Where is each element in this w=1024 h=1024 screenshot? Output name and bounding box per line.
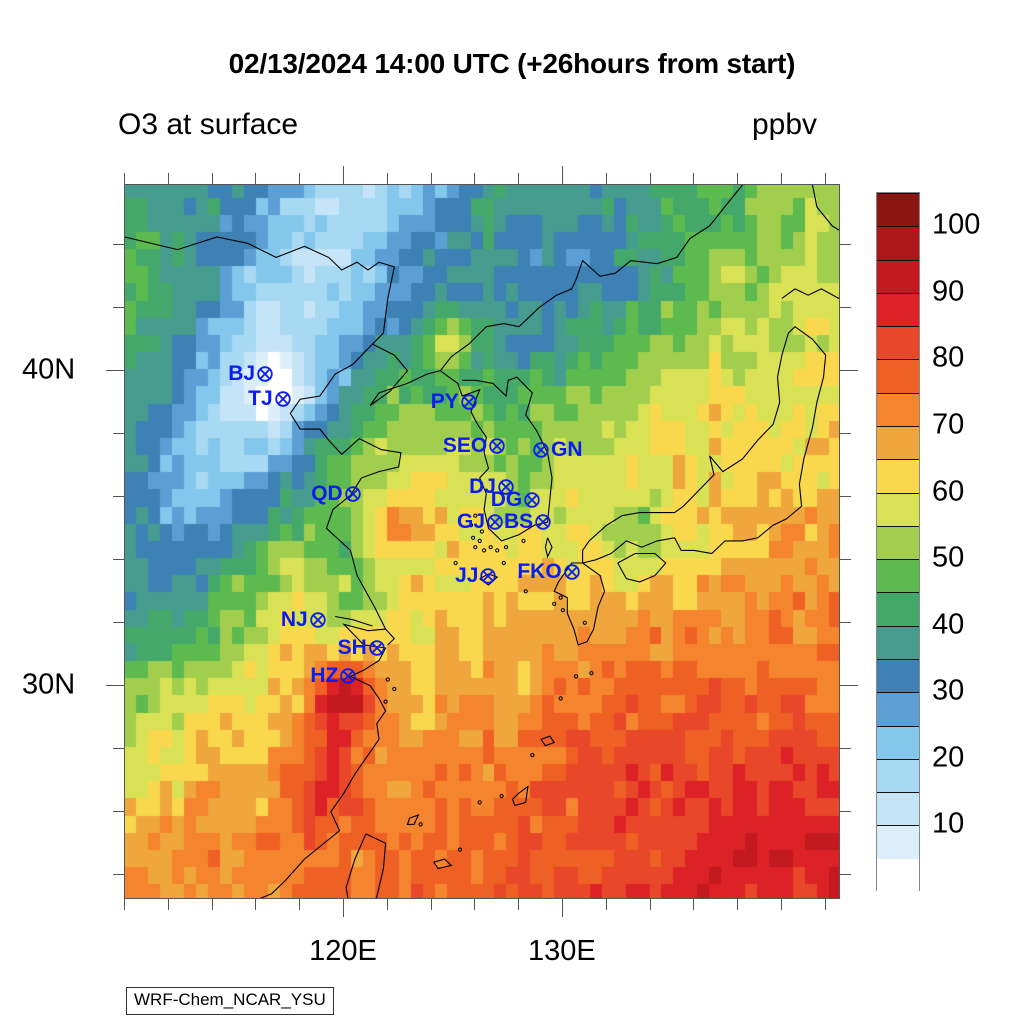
x-axis-tick bbox=[168, 899, 169, 910]
x-axis-tick bbox=[650, 899, 651, 910]
x-axis-tick bbox=[299, 899, 300, 910]
station-label: NJ bbox=[281, 608, 308, 632]
y-axis-tick bbox=[113, 559, 124, 560]
y-axis-tick bbox=[113, 496, 124, 497]
y-axis-tick bbox=[840, 811, 851, 812]
colorbar-band[interactable] bbox=[877, 659, 919, 692]
colorbar-band[interactable] bbox=[877, 859, 919, 892]
x-axis-tick bbox=[255, 173, 256, 184]
x-axis-tick bbox=[781, 173, 782, 184]
y-axis-label: 40N bbox=[22, 353, 75, 386]
station-label: GJ bbox=[457, 510, 485, 534]
station-label: SH bbox=[338, 636, 367, 660]
y-axis-tick bbox=[113, 307, 124, 308]
plot-subtitle: O3 at surface bbox=[118, 108, 298, 142]
x-axis-tick bbox=[693, 173, 694, 184]
x-axis-tick bbox=[518, 899, 519, 910]
x-axis-tick bbox=[431, 899, 432, 910]
x-axis-tick bbox=[606, 899, 607, 910]
x-axis-tick bbox=[693, 899, 694, 910]
station-markers-layer: BJTJQDNJSHHZPYSEODJDGGJBSJJGNFKO bbox=[125, 185, 840, 899]
colorbar-tick-label: 40 bbox=[932, 608, 964, 641]
colorbar-tick-label: 30 bbox=[932, 675, 964, 708]
y-axis-tick bbox=[113, 622, 124, 623]
y-axis-tick bbox=[840, 370, 858, 371]
page-title: 02/13/2024 14:00 UTC (+26hours from star… bbox=[0, 48, 1024, 80]
x-axis-tick bbox=[562, 166, 563, 184]
colorbar-band[interactable] bbox=[877, 193, 919, 226]
circle-cross-icon bbox=[487, 514, 504, 531]
x-axis-tick bbox=[212, 899, 213, 910]
circle-cross-icon bbox=[535, 514, 552, 531]
y-axis-tick bbox=[113, 244, 124, 245]
station-label: PY bbox=[431, 390, 459, 414]
y-axis-tick bbox=[840, 874, 851, 875]
y-axis-tick bbox=[113, 874, 124, 875]
y-axis-tick bbox=[113, 811, 124, 812]
colorbar-band[interactable] bbox=[877, 825, 919, 858]
colorbar-band[interactable] bbox=[877, 559, 919, 592]
x-axis-tick bbox=[474, 173, 475, 184]
circle-cross-icon bbox=[368, 640, 385, 657]
colorbar-band[interactable] bbox=[877, 293, 919, 326]
circle-cross-icon bbox=[257, 365, 274, 382]
colorbar-band[interactable] bbox=[877, 592, 919, 625]
colorbar-band[interactable] bbox=[877, 260, 919, 293]
x-axis-tick bbox=[474, 899, 475, 910]
colorbar-band[interactable] bbox=[877, 326, 919, 359]
circle-cross-icon bbox=[524, 491, 541, 508]
x-axis-tick bbox=[737, 899, 738, 910]
x-axis-label: 120E bbox=[309, 935, 377, 968]
station-label: JJ bbox=[455, 564, 478, 588]
x-axis-tick bbox=[737, 173, 738, 184]
x-axis-tick bbox=[255, 899, 256, 910]
colorbar-band[interactable] bbox=[877, 226, 919, 259]
x-axis-tick bbox=[343, 166, 344, 184]
y-axis-tick bbox=[840, 748, 851, 749]
circle-cross-icon bbox=[340, 668, 357, 685]
x-axis-tick bbox=[825, 173, 826, 184]
colorbar-tick-label: 100 bbox=[932, 209, 980, 242]
circle-cross-icon bbox=[460, 394, 477, 411]
y-axis-tick bbox=[840, 685, 858, 686]
x-axis-tick bbox=[168, 173, 169, 184]
circle-cross-icon bbox=[344, 485, 361, 502]
y-axis-tick bbox=[840, 433, 851, 434]
colorbar[interactable] bbox=[876, 192, 920, 891]
circle-cross-icon bbox=[563, 564, 580, 581]
x-axis-tick bbox=[781, 899, 782, 910]
colorbar-tick-label: 60 bbox=[932, 475, 964, 508]
y-axis-tick bbox=[106, 370, 124, 371]
station-label: TJ bbox=[248, 387, 273, 411]
y-axis-tick bbox=[840, 307, 851, 308]
x-axis-tick bbox=[518, 173, 519, 184]
colorbar-tick-label: 50 bbox=[932, 542, 964, 575]
y-axis-tick bbox=[840, 244, 851, 245]
x-axis-tick bbox=[124, 173, 125, 184]
station-label: FKO bbox=[517, 560, 561, 584]
colorbar-tick-label: 90 bbox=[932, 275, 964, 308]
colorbar-band[interactable] bbox=[877, 359, 919, 392]
y-axis-label: 30N bbox=[22, 668, 75, 701]
y-axis-tick bbox=[113, 433, 124, 434]
station-label: BJ bbox=[228, 362, 255, 386]
colorbar-tick-label: 70 bbox=[932, 409, 964, 442]
x-axis-tick bbox=[562, 899, 563, 917]
station-label: DG bbox=[491, 488, 523, 512]
circle-cross-icon bbox=[480, 567, 497, 584]
colorbar-band[interactable] bbox=[877, 692, 919, 725]
y-axis-tick bbox=[113, 748, 124, 749]
y-axis-tick bbox=[840, 496, 851, 497]
colorbar-tick-label: 80 bbox=[932, 342, 964, 375]
colorbar-band[interactable] bbox=[877, 426, 919, 459]
x-axis-tick bbox=[212, 173, 213, 184]
colorbar-band[interactable] bbox=[877, 393, 919, 426]
units-label: ppbv bbox=[752, 108, 817, 142]
colorbar-band[interactable] bbox=[877, 759, 919, 792]
circle-cross-icon bbox=[309, 611, 326, 628]
circle-cross-icon bbox=[533, 441, 550, 458]
station-label: BS bbox=[504, 510, 533, 534]
map-plot-area[interactable]: BJTJQDNJSHHZPYSEODJDGGJBSJJGNFKO bbox=[124, 184, 840, 899]
colorbar-band[interactable] bbox=[877, 526, 919, 559]
station-label: HZ bbox=[310, 664, 338, 688]
colorbar-band[interactable] bbox=[877, 626, 919, 659]
y-axis-tick bbox=[840, 622, 851, 623]
x-axis-tick bbox=[825, 899, 826, 910]
x-axis-tick bbox=[124, 899, 125, 910]
x-axis-tick bbox=[606, 173, 607, 184]
colorbar-band[interactable] bbox=[877, 459, 919, 492]
colorbar-band[interactable] bbox=[877, 726, 919, 759]
station-label: QD bbox=[311, 482, 343, 506]
y-axis-tick bbox=[106, 685, 124, 686]
station-label: GN bbox=[551, 438, 583, 462]
y-axis-tick bbox=[840, 559, 851, 560]
x-axis-tick bbox=[387, 173, 388, 184]
x-axis-tick bbox=[431, 173, 432, 184]
colorbar-tick-label: 20 bbox=[932, 741, 964, 774]
x-axis-tick bbox=[650, 173, 651, 184]
x-axis-tick bbox=[387, 899, 388, 910]
station-label: SEO bbox=[443, 434, 487, 458]
colorbar-band[interactable] bbox=[877, 493, 919, 526]
x-axis-label: 130E bbox=[528, 935, 596, 968]
colorbar-band[interactable] bbox=[877, 792, 919, 825]
x-axis-tick bbox=[299, 173, 300, 184]
circle-cross-icon bbox=[489, 438, 506, 455]
colorbar-tick-label: 10 bbox=[932, 808, 964, 841]
x-axis-tick bbox=[343, 899, 344, 917]
model-tag: WRF-Chem_NCAR_YSU bbox=[126, 987, 334, 1015]
circle-cross-icon bbox=[274, 391, 291, 408]
